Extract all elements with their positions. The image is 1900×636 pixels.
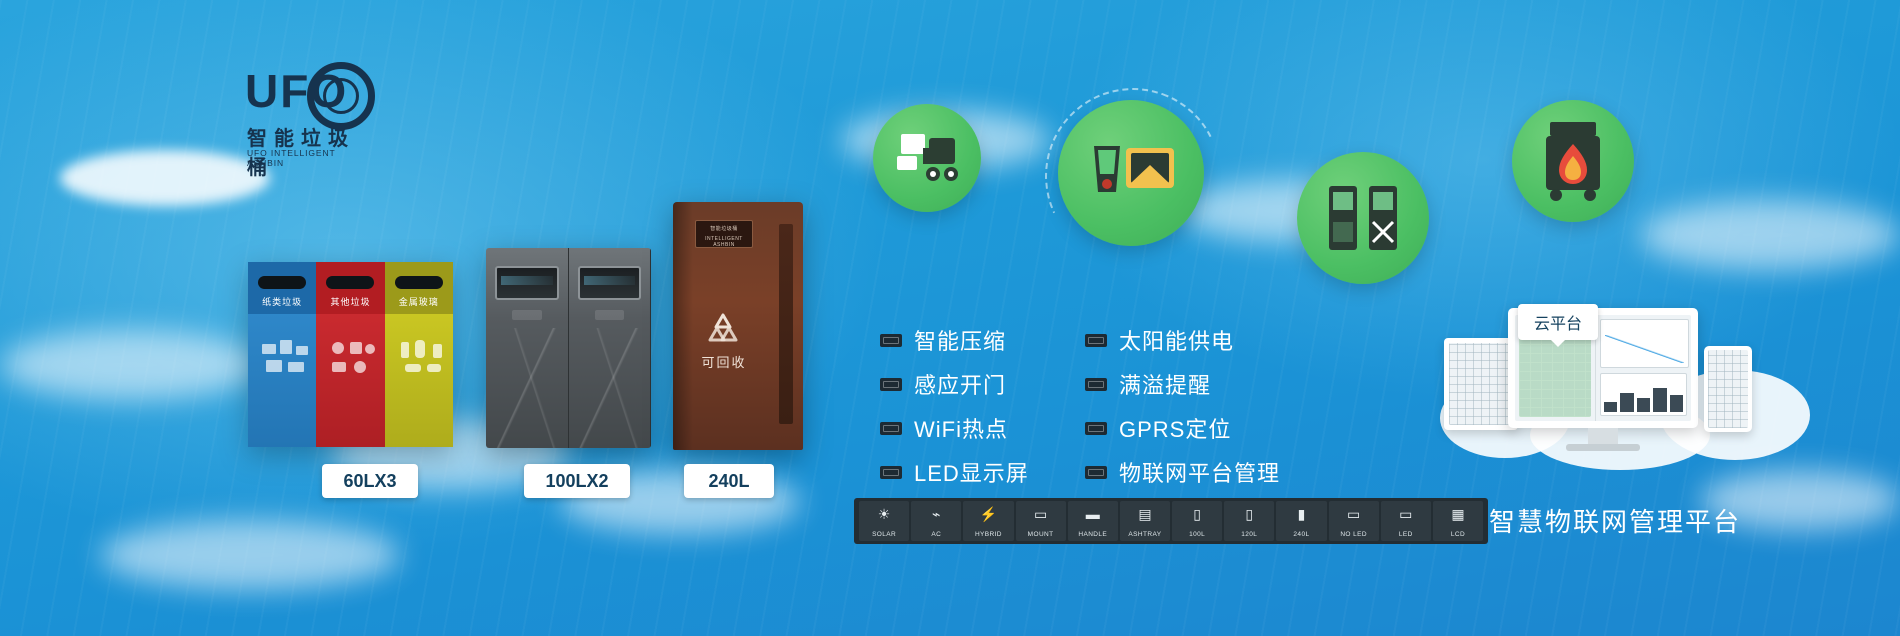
cloud-platform-tag: 云平台 [1518, 304, 1598, 340]
feature-circle-sensor [1297, 152, 1429, 284]
bin-compartment-top: 金属玻璃 [385, 262, 453, 314]
bin-slot-icon [326, 276, 374, 289]
product-three-compartment-bin: 纸类垃圾 其 [248, 262, 453, 447]
bullet-bin-icon [1085, 422, 1107, 435]
option-caption: MOUNT [1028, 531, 1054, 538]
plug-icon: ⌁ [925, 505, 947, 523]
bullet-bin-icon [880, 334, 902, 347]
bin-compartment-label: 金属玻璃 [385, 295, 453, 308]
option-caption: 120L [1241, 531, 1257, 538]
bin-compartment-top: 纸类垃圾 [248, 262, 316, 314]
product-single-bin-240l: 智能垃圾桶 INTELLIGENT ASHBIN 可回收 [673, 202, 803, 450]
bin-door [569, 248, 652, 448]
bin-display-screen [578, 266, 642, 300]
feature-item: GPRS定位 [1085, 410, 1280, 446]
option-caption: HYBRID [975, 531, 1002, 538]
ashtray-icon: ▤ [1134, 505, 1156, 523]
option-caption: HANDLE [1078, 531, 1107, 538]
feature-item: 物联网平台管理 [1085, 454, 1280, 490]
sun-icon: ☀ [873, 505, 895, 523]
monitor-stand [1588, 428, 1618, 444]
feature-label: 太阳能供电 [1119, 324, 1234, 356]
option-icon-strip: ☀ SOLAR ⌁ AC ⚡ HYBRID ▭ MOUNT ▬ HANDLE ▤… [854, 498, 1488, 544]
bar-chart-graphic [1600, 373, 1687, 416]
bin-slot-icon [258, 276, 306, 289]
cloud-platform-illustration [1428, 300, 1788, 460]
bin-push-flap [512, 310, 542, 320]
feature-label: GPRS定位 [1119, 412, 1231, 444]
feature-item: 智能压缩 [880, 322, 1029, 358]
product-two-compartment-bin: 智慧垃圾桶 [486, 248, 651, 448]
feature-label: 智能压缩 [914, 324, 1006, 356]
bin-recycle-label: 可回收 [689, 352, 759, 371]
lightning-icon: ⚡ [977, 505, 999, 523]
cloud-decoration [1640, 200, 1900, 270]
mount-bracket-icon: ▭ [1030, 505, 1052, 523]
handle-icon: ▬ [1082, 505, 1104, 523]
feature-label: 满溢提醒 [1119, 368, 1211, 400]
option-mount[interactable]: ▭ MOUNT [1016, 501, 1066, 541]
option-caption: 100L [1189, 531, 1205, 538]
option-caption: LED [1399, 531, 1413, 538]
led-icon: ▭ [1395, 505, 1417, 523]
feature-circle-solar [1058, 100, 1204, 246]
bin-body: 智能垃圾桶 INTELLIGENT ASHBIN 可回收 [673, 202, 803, 450]
other-waste-icon [324, 336, 384, 382]
tablet-screen [1449, 343, 1513, 425]
bin-compartment-body [248, 314, 316, 447]
feature-circle-fire [1512, 100, 1634, 222]
paper-waste-icon [256, 336, 316, 382]
cloud-decoration [100, 520, 400, 590]
line-chart-graphic [1600, 319, 1689, 368]
monitor-stand-base [1566, 444, 1640, 451]
bin-push-flap [595, 310, 625, 320]
option-caption: NO LED [1340, 531, 1367, 538]
bin-display-text: 智能垃圾桶 [696, 225, 752, 232]
bin-surface-pattern [569, 328, 651, 448]
feature-circle-compress [873, 104, 981, 212]
bin-compartment-label: 纸类垃圾 [248, 295, 316, 308]
bin-display-screen [495, 266, 559, 300]
bullet-bin-icon [880, 378, 902, 391]
option-caption: 240L [1293, 531, 1309, 538]
option-handle[interactable]: ▬ HANDLE [1068, 501, 1118, 541]
bin-compartment: 金属玻璃 [385, 262, 453, 447]
feature-list-left: 智能压缩 感应开门 WiFi热点 LED显示屏 [880, 322, 1029, 498]
cloud-decoration [0, 330, 260, 400]
bin-body: 纸类垃圾 其 [248, 262, 453, 447]
bin-body [486, 248, 651, 448]
option-100l[interactable]: ▯ 100L [1172, 501, 1222, 541]
bin-compartment: 其他垃圾 [316, 262, 384, 447]
bin-display-subtext: INTELLIGENT ASHBIN [696, 236, 752, 248]
option-solar[interactable]: ☀ SOLAR [859, 501, 909, 541]
solar-panel-icon [1058, 100, 1204, 246]
bullet-bin-icon [880, 422, 902, 435]
glass-metal-waste-icon [393, 336, 453, 382]
recycle-icon [703, 310, 743, 350]
phone-screen [1708, 350, 1748, 428]
option-no-led[interactable]: ▭ NO LED [1329, 501, 1379, 541]
bin-compartment: 纸类垃圾 [248, 262, 316, 447]
bin-compartment-top: 其他垃圾 [316, 262, 384, 314]
bin-display-screen: 智能垃圾桶 INTELLIGENT ASHBIN [695, 220, 753, 248]
option-120l[interactable]: ▯ 120L [1224, 501, 1274, 541]
platform-caption: 智慧物联网管理平台 [1445, 502, 1785, 539]
fire-alarm-icon [1512, 100, 1634, 222]
bin-100l-icon: ▯ [1186, 505, 1208, 523]
compactor-truck-icon [873, 104, 981, 212]
logo-english-name: UFO INTELLIGENT ASHBIN [247, 148, 375, 168]
tablet-device [1444, 338, 1518, 430]
option-240l[interactable]: ▮ 240L [1276, 501, 1326, 541]
option-caption: ASHTRAY [1128, 531, 1161, 538]
brand-logo: UFO 智能垃圾桶 UFO INTELLIGENT ASHBIN [245, 62, 375, 167]
option-ac[interactable]: ⌁ AC [911, 501, 961, 541]
option-led[interactable]: ▭ LED [1381, 501, 1431, 541]
bin-compartment-body [316, 314, 384, 447]
phone-device [1704, 346, 1752, 432]
capacity-tag-60l: 60LX3 [322, 464, 418, 498]
bin-side-panel [779, 224, 793, 424]
bin-compartment-label: 其他垃圾 [316, 295, 384, 308]
feature-item: WiFi热点 [880, 410, 1029, 446]
no-led-icon: ▭ [1343, 505, 1365, 523]
bullet-bin-icon [1085, 334, 1107, 347]
feature-label: 物联网平台管理 [1119, 456, 1280, 488]
logo-ring-icon [307, 62, 375, 130]
capacity-tag-100l: 100LX2 [524, 464, 630, 498]
feature-label: 感应开门 [914, 368, 1006, 400]
bin-door [486, 248, 569, 448]
feature-item: 感应开门 [880, 366, 1029, 402]
feature-label: WiFi热点 [914, 412, 1008, 444]
feature-item: LED显示屏 [880, 454, 1029, 490]
bullet-bin-icon [880, 466, 902, 479]
feature-item: 满溢提醒 [1085, 366, 1280, 402]
feature-list-right: 太阳能供电 满溢提醒 GPRS定位 物联网平台管理 [1085, 322, 1280, 498]
bullet-bin-icon [1085, 378, 1107, 391]
monitor-charts-pane [1596, 315, 1691, 421]
bin-240l-icon: ▮ [1290, 505, 1312, 523]
cloud-decoration [60, 150, 270, 206]
bin-compartment-body [385, 314, 453, 447]
capacity-tag-240l: 240L [684, 464, 774, 498]
feature-item: 太阳能供电 [1085, 322, 1280, 358]
feature-label: LED显示屏 [914, 456, 1029, 488]
option-caption: SOLAR [872, 531, 896, 538]
bin-slot-icon [395, 276, 443, 289]
option-hybrid[interactable]: ⚡ HYBRID [963, 501, 1013, 541]
bin-120l-icon: ▯ [1238, 505, 1260, 523]
bullet-bin-icon [1085, 466, 1107, 479]
option-caption: AC [931, 531, 941, 538]
dual-bin-sensor-icon [1297, 152, 1429, 284]
option-ashtray[interactable]: ▤ ASHTRAY [1120, 501, 1170, 541]
bin-surface-pattern [486, 328, 568, 448]
promo-banner: UFO 智能垃圾桶 UFO INTELLIGENT ASHBIN 纸类垃圾 [0, 0, 1900, 636]
